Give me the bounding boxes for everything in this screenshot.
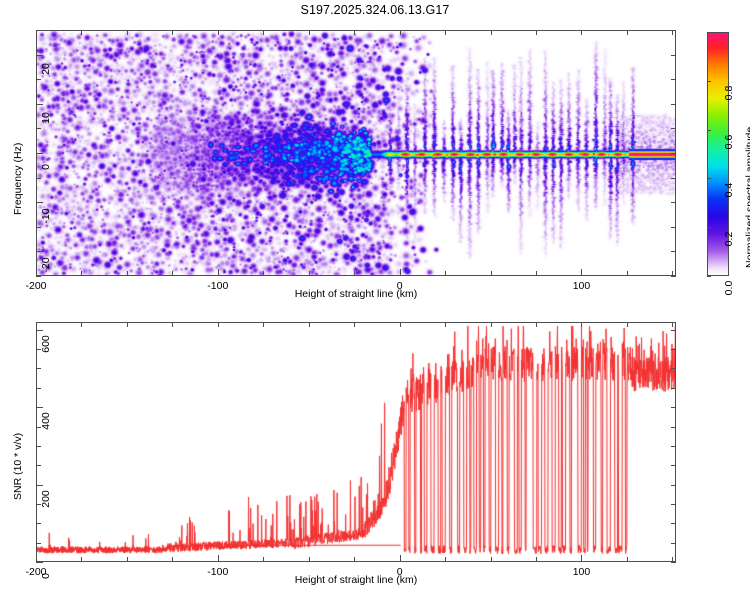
- y-minor-tick: [36, 523, 41, 524]
- y-minor-tick: [36, 504, 41, 505]
- colorbar-tick-label: 0.6: [723, 129, 735, 155]
- spectrogram-yaxis-label: Frequency (Hz): [12, 143, 24, 215]
- x-tick-top: [491, 30, 492, 35]
- y-tick-right: [671, 485, 676, 486]
- y-minor-tick: [36, 465, 41, 466]
- y-tick-right: [671, 178, 676, 179]
- x-tick-top: [354, 30, 355, 35]
- x-tick-label: 100: [551, 280, 611, 292]
- y-tick-label: -10: [40, 201, 52, 231]
- y-tick-right: [671, 427, 676, 428]
- y-tick-right: [671, 523, 676, 524]
- x-tick-top: [263, 30, 264, 35]
- y-minor-tick: [36, 446, 41, 447]
- colorbar-tick: [707, 178, 711, 179]
- y-tick-right: [671, 79, 676, 80]
- colorbar-tick-label: 0.0: [723, 275, 735, 301]
- y-tick-right: [671, 388, 676, 389]
- y-tick-label: 0: [40, 561, 52, 591]
- x-minor-tick: [445, 271, 446, 276]
- x-tick-top: [172, 30, 173, 35]
- x-minor-tick: [445, 557, 446, 562]
- x-tick-top: [309, 30, 310, 35]
- x-tick-top: [400, 30, 401, 35]
- x-minor-tick: [309, 557, 310, 562]
- colorbar-tick-label: 0.8: [723, 80, 735, 106]
- y-tick-label: -20: [40, 250, 52, 280]
- x-tick-top: [627, 322, 628, 327]
- x-tick-top: [309, 322, 310, 327]
- x-tick: [400, 269, 401, 276]
- y-tick-right: [671, 153, 676, 154]
- colorbar-tick-label: 0.4: [723, 177, 735, 203]
- y-tick-right: [671, 227, 676, 228]
- x-tick-top: [127, 322, 128, 327]
- y-minor-tick: [36, 349, 41, 350]
- page-title: S197.2025.324.06.13.G17: [0, 3, 750, 17]
- y-minor-tick: [36, 427, 41, 428]
- x-minor-tick: [491, 271, 492, 276]
- colorbar-label: Normalized spectral amplitude: [744, 127, 750, 268]
- snr-xaxis-label: Height of straight line (km): [196, 574, 516, 586]
- y-tick-right: [671, 368, 676, 369]
- y-tick-right: [671, 276, 676, 277]
- y-tick-right: [671, 446, 676, 447]
- x-tick-top: [127, 30, 128, 35]
- x-minor-tick: [536, 557, 537, 562]
- y-tick-label: 200: [40, 484, 52, 514]
- x-tick: [581, 555, 582, 562]
- y-tick-label: 0: [40, 152, 52, 182]
- x-tick: [36, 555, 37, 562]
- x-minor-tick: [309, 271, 310, 276]
- y-tick-right: [671, 251, 676, 252]
- y-tick-label: 400: [40, 406, 52, 436]
- y-minor-tick: [36, 368, 41, 369]
- x-tick-top: [81, 30, 82, 35]
- x-tick-top: [81, 322, 82, 327]
- colorbar-tick-label: 0.2: [723, 226, 735, 252]
- x-tick-top: [36, 30, 37, 35]
- y-tick-right: [671, 202, 676, 203]
- x-minor-tick: [263, 271, 264, 276]
- x-tick-top: [36, 322, 37, 327]
- x-tick: [218, 555, 219, 562]
- x-tick: [400, 555, 401, 562]
- x-tick-label: -200: [6, 566, 66, 578]
- x-tick-top: [218, 322, 219, 327]
- x-tick: [581, 269, 582, 276]
- x-tick-top: [354, 322, 355, 327]
- x-minor-tick: [127, 557, 128, 562]
- x-tick-label: -200: [6, 280, 66, 292]
- y-minor-tick: [36, 276, 41, 277]
- x-tick-top: [672, 30, 673, 35]
- x-tick-top: [581, 322, 582, 327]
- x-tick-top: [445, 322, 446, 327]
- x-minor-tick: [491, 557, 492, 562]
- x-tick-top: [263, 322, 264, 327]
- y-tick-right: [671, 562, 676, 563]
- x-tick: [36, 269, 37, 276]
- y-tick-right: [671, 128, 676, 129]
- spectrogram-panel: [36, 30, 676, 276]
- x-tick-top: [445, 30, 446, 35]
- x-minor-tick: [354, 557, 355, 562]
- x-minor-tick: [536, 271, 537, 276]
- x-tick-top: [627, 30, 628, 35]
- x-tick-top: [172, 322, 173, 327]
- x-minor-tick: [127, 271, 128, 276]
- y-tick-right: [671, 407, 676, 408]
- x-tick-top: [672, 322, 673, 327]
- snr-canvas: [37, 323, 676, 562]
- y-tick-right: [671, 504, 676, 505]
- y-minor-tick: [36, 388, 41, 389]
- snr-yaxis-label: SNR (10 * v/v): [12, 433, 24, 500]
- x-minor-tick: [354, 271, 355, 276]
- figure-root: S197.2025.324.06.13.G17 -200-1000100-20-…: [0, 0, 750, 600]
- y-tick-label: 10: [40, 103, 52, 133]
- y-tick-right: [671, 465, 676, 466]
- x-tick-top: [536, 322, 537, 327]
- y-tick-label: 600: [40, 329, 52, 359]
- x-tick-top: [536, 30, 537, 35]
- colorbar-tick: [707, 276, 711, 277]
- x-tick-top: [400, 322, 401, 327]
- x-minor-tick: [81, 557, 82, 562]
- colorbar-tick: [707, 227, 711, 228]
- x-tick: [218, 269, 219, 276]
- y-tick-right: [671, 55, 676, 56]
- y-tick-right: [671, 330, 676, 331]
- colorbar-tick: [707, 130, 711, 131]
- x-tick-top: [491, 322, 492, 327]
- y-tick-right: [671, 104, 676, 105]
- y-tick-right: [671, 349, 676, 350]
- snr-panel: [36, 322, 676, 562]
- x-tick-label: 100: [551, 566, 611, 578]
- x-minor-tick: [81, 271, 82, 276]
- spectrogram-xaxis-label: Height of straight line (km): [196, 288, 516, 300]
- y-tick-right: [671, 543, 676, 544]
- y-minor-tick: [36, 79, 41, 80]
- y-tick-label: 20: [40, 54, 52, 84]
- x-tick-top: [218, 30, 219, 35]
- y-minor-tick: [36, 178, 41, 179]
- spectrogram-canvas: [37, 31, 676, 276]
- x-tick-top: [581, 30, 582, 35]
- x-minor-tick: [172, 557, 173, 562]
- x-minor-tick: [627, 557, 628, 562]
- x-minor-tick: [263, 557, 264, 562]
- colorbar-tick: [707, 81, 711, 82]
- x-minor-tick: [172, 271, 173, 276]
- y-minor-tick: [36, 227, 41, 228]
- y-minor-tick: [36, 543, 41, 544]
- y-minor-tick: [36, 128, 41, 129]
- x-minor-tick: [627, 271, 628, 276]
